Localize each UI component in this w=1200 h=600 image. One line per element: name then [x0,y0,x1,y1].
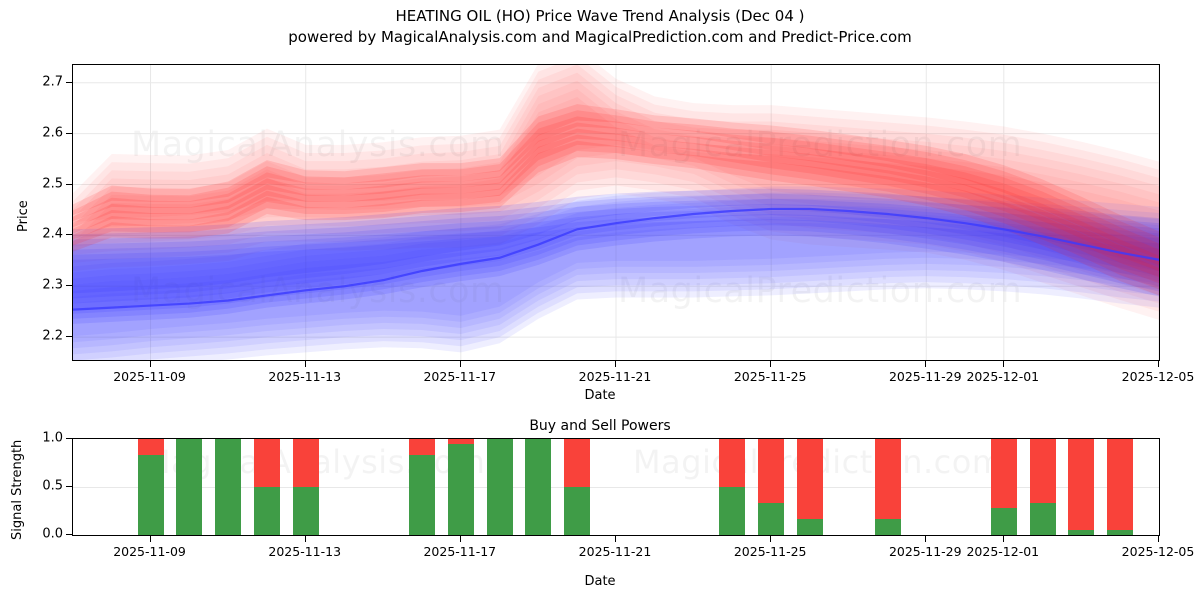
buy-power-segment [176,439,202,535]
price-x-tick-label: 2025-12-01 [966,369,1039,384]
price-wave-bands [73,65,1159,360]
buy-power-segment [991,508,1017,535]
buy-power-segment [138,455,164,535]
signal-x-tick-label: 2025-11-25 [734,544,807,559]
buy-power-segment [1030,503,1056,535]
price-y-axis-label: Price [16,200,31,232]
price-y-tick [66,184,72,185]
signal-x-tick [615,536,616,542]
buy-power-segment [797,519,823,535]
sell-power-segment [138,439,164,455]
signal-bar[interactable] [1030,439,1056,535]
signal-y-axis-label: Signal Strength [10,440,25,540]
buy-power-segment [758,503,784,535]
price-x-tick [615,361,616,367]
signal-bar[interactable] [1107,439,1133,535]
price-y-tick-label: 2.7 [42,74,63,89]
signal-bar[interactable] [1068,439,1094,535]
signal-y-tick [66,438,72,439]
signal-bar[interactable] [991,439,1017,535]
signal-bar[interactable] [448,439,474,535]
signal-bar[interactable] [719,439,745,535]
price-y-tick-label: 2.5 [42,176,63,191]
buy-power-segment [525,439,551,535]
signal-x-tick-label: 2025-12-05 [1122,544,1195,559]
price-x-tick [925,361,926,367]
signal-x-tick-label: 2025-11-17 [423,544,496,559]
price-y-tick-label: 2.2 [42,329,63,344]
sell-power-segment [409,439,435,455]
signal-x-tick [150,536,151,542]
signal-x-tick [305,536,306,542]
price-y-tick-label: 2.3 [42,278,63,293]
page-title: HEATING OIL (HO) Price Wave Trend Analys… [0,6,1200,27]
signal-bar[interactable] [875,439,901,535]
price-y-tick [66,336,72,337]
signal-bar[interactable] [564,439,590,535]
buy-power-segment [487,439,513,535]
signal-y-tick-label: 0.5 [42,479,63,494]
buy-power-segment [409,455,435,535]
signal-bar[interactable] [293,439,319,535]
title-block: HEATING OIL (HO) Price Wave Trend Analys… [0,6,1200,48]
sell-power-segment [719,439,745,487]
buy-power-segment [719,487,745,535]
signal-y-tick [66,486,72,487]
buy-power-segment [215,439,241,535]
price-x-axis-label: Date [584,388,615,403]
price-x-tick-label: 2025-11-21 [579,369,652,384]
buy-power-segment [293,487,319,535]
price-y-tick-label: 2.4 [42,227,63,242]
price-y-tick [66,82,72,83]
signal-chart-plot-area: MagicalAnalysis.com MagicalPrediction.co… [72,438,1160,536]
price-x-tick [460,361,461,367]
sell-power-segment [1068,439,1094,530]
signal-y-tick-label: 0.0 [42,527,63,542]
chart-page: HEATING OIL (HO) Price Wave Trend Analys… [0,0,1200,600]
buy-power-segment [1068,530,1094,535]
signal-x-tick-label: 2025-11-29 [889,544,962,559]
page-subtitle: powered by MagicalAnalysis.com and Magic… [0,27,1200,48]
signal-x-tick-label: 2025-11-21 [579,544,652,559]
price-x-tick-label: 2025-11-17 [423,369,496,384]
sell-power-segment [1030,439,1056,503]
sell-power-segment [797,439,823,519]
price-x-tick [1158,361,1159,367]
price-y-tick [66,234,72,235]
sell-power-segment [991,439,1017,508]
signal-bar[interactable] [758,439,784,535]
buy-power-segment [1107,530,1133,535]
price-x-tick-label: 2025-11-09 [113,369,186,384]
buy-power-segment [564,487,590,535]
signal-bar[interactable] [409,439,435,535]
signal-bar[interactable] [215,439,241,535]
sell-power-segment [293,439,319,487]
price-x-tick-label: 2025-11-29 [889,369,962,384]
signal-chart-title: Buy and Sell Powers [0,418,1200,434]
buy-power-segment [875,519,901,535]
signal-bar[interactable] [138,439,164,535]
sell-power-segment [564,439,590,487]
signal-x-tick [1158,536,1159,542]
sell-power-segment [758,439,784,503]
signal-x-axis-label: Date [584,574,615,589]
price-y-tick [66,133,72,134]
price-x-tick-label: 2025-12-05 [1122,369,1195,384]
price-x-tick-label: 2025-11-25 [734,369,807,384]
price-chart-plot-area: MagicalAnalysis.com MagicalPrediction.co… [72,64,1160,361]
price-x-tick-label: 2025-11-13 [268,369,341,384]
signal-x-tick [770,536,771,542]
signal-bar[interactable] [487,439,513,535]
signal-bar[interactable] [176,439,202,535]
sell-power-segment [254,439,280,487]
price-x-tick [1003,361,1004,367]
price-x-tick [150,361,151,367]
price-x-tick [305,361,306,367]
price-y-tick [66,285,72,286]
signal-bar[interactable] [525,439,551,535]
signal-x-tick [925,536,926,542]
price-y-tick-label: 2.6 [42,125,63,140]
signal-x-tick [460,536,461,542]
signal-x-tick-label: 2025-11-09 [113,544,186,559]
signal-y-tick [66,534,72,535]
price-x-tick [770,361,771,367]
buy-power-segment [448,444,474,535]
sell-power-segment [1107,439,1133,530]
signal-bar[interactable] [797,439,823,535]
signal-x-tick-label: 2025-11-13 [268,544,341,559]
signal-x-tick [1003,536,1004,542]
signal-bar[interactable] [254,439,280,535]
buy-power-segment [254,487,280,535]
signal-y-tick-label: 1.0 [42,431,63,446]
signal-x-tick-label: 2025-12-01 [966,544,1039,559]
sell-power-segment [875,439,901,519]
